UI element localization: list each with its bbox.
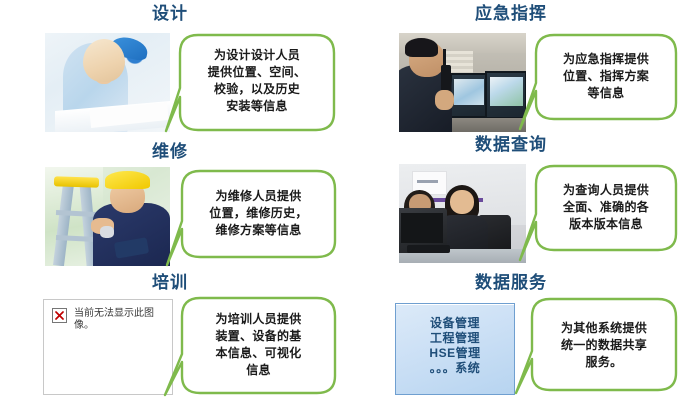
callout-line: 维修方案等信息 xyxy=(190,222,327,239)
callout-line: 服务。 xyxy=(540,354,668,371)
hard-hat-shape xyxy=(105,171,150,189)
photo-query-scene xyxy=(399,164,526,263)
callout-line: 等信息 xyxy=(544,85,668,102)
photo-data-query-office xyxy=(399,164,526,263)
callout-text-emergency: 为应急指挥提供 位置、指挥方案 等信息 xyxy=(534,51,678,102)
callout-line: 为培训人员提供 xyxy=(190,311,327,328)
hand-shape xyxy=(435,90,454,110)
callout-query: 为查询人员提供 全面、准确的各 版本版本信息 xyxy=(534,164,678,252)
data-service-item: 工程管理 xyxy=(396,331,514,346)
callout-line: 位置，维修历史， xyxy=(190,205,327,222)
tool-head-shape xyxy=(100,226,114,238)
callout-line: 位置、指挥方案 xyxy=(544,68,668,85)
callout-line: 信息 xyxy=(190,362,327,379)
monitor-shape-1 xyxy=(450,73,488,119)
hand-shape xyxy=(95,69,113,85)
panel-title-data-service: 数据服务 xyxy=(341,273,681,293)
callout-line: 版本版本信息 xyxy=(544,216,668,233)
callout-line: 为查询人员提供 xyxy=(544,182,668,199)
callout-line: 提供位置、空间、 xyxy=(188,64,326,81)
photo-design-scene xyxy=(45,33,170,132)
hard-hat-shape xyxy=(108,34,149,61)
broken-image-text: 当前无法显示此图像。 xyxy=(74,308,158,332)
panel-query: 数据查询 为查询人员提供 全面、准 xyxy=(341,133,681,270)
slide-canvas: 设计 为设计设计人员 提供位置、空间、 校验，以及历史 安装等信息 应急指挥 xyxy=(0,0,681,400)
callout-line: 为维修人员提供 xyxy=(190,188,327,205)
keyboard-shape xyxy=(407,245,450,253)
photo-emergency-commander xyxy=(399,33,526,132)
callout-text-data-service: 为其他系统提供 统一的数据共享 服务。 xyxy=(530,320,678,371)
panel-title-maintenance: 维修 xyxy=(0,142,340,162)
panel-maintenance: 维修 为维修人员提供 位置，维修历 xyxy=(0,140,340,270)
panel-design: 设计 为设计设计人员 提供位置、空间、 校验，以及历史 安装等信息 xyxy=(0,2,340,140)
callout-text-query: 为查询人员提供 全面、准确的各 版本版本信息 xyxy=(534,182,678,233)
callout-line: 安装等信息 xyxy=(188,98,326,115)
callout-line: 为应急指挥提供 xyxy=(544,51,668,68)
panel-title-query: 数据查询 xyxy=(341,135,681,155)
callout-line: 校验，以及历史 xyxy=(188,81,326,98)
data-service-item: 。。。系统 xyxy=(396,361,514,376)
callout-data-service: 为其他系统提供 统一的数据共享 服务。 xyxy=(530,297,678,393)
callout-line: 装置、设备的基 xyxy=(190,328,327,345)
broken-image-row: 当前无法显示此图像。 xyxy=(52,308,158,332)
photo-emergency-scene xyxy=(399,33,526,132)
panel-training: 培训 当前无法显示此图像。 为培训人员提供 装置、设备的基 本信息、可视化 信息 xyxy=(0,270,340,400)
data-service-box: 设备管理 工程管理 HSE管理 。。。系统 xyxy=(395,303,515,395)
data-service-item: HSE管理 xyxy=(396,346,514,361)
broken-image-placeholder: 当前无法显示此图像。 xyxy=(43,299,173,395)
photo-design-engineer xyxy=(45,33,170,132)
callout-text-design: 为设计设计人员 提供位置、空间、 校验，以及历史 安装等信息 xyxy=(178,47,336,115)
photo-maintenance-worker xyxy=(45,167,170,266)
data-service-item: 设备管理 xyxy=(396,316,514,331)
person-hair-shape xyxy=(405,38,438,57)
panel-emergency: 应急指挥 为应急指挥提供 位置、指挥方案 等信息 xyxy=(341,2,681,140)
callout-training: 为培训人员提供 装置、设备的基 本信息、可视化 信息 xyxy=(180,296,337,396)
callout-emergency: 为应急指挥提供 位置、指挥方案 等信息 xyxy=(534,33,678,121)
panel-data-service: 数据服务 设备管理 工程管理 HSE管理 。。。系统 为其他系统提供 统一的数据… xyxy=(341,270,681,400)
data-service-list: 设备管理 工程管理 HSE管理 。。。系统 xyxy=(396,316,514,376)
ladder-top-shape xyxy=(54,176,99,187)
panel-title-training: 培训 xyxy=(0,273,340,293)
broken-image-icon xyxy=(52,308,67,323)
callout-design: 为设计设计人员 提供位置、空间、 校验，以及历史 安装等信息 xyxy=(178,33,336,132)
callout-line: 统一的数据共享 xyxy=(540,337,668,354)
callout-line: 为设计设计人员 xyxy=(188,47,326,64)
callout-line: 全面、准确的各 xyxy=(544,199,668,216)
callout-line: 为其他系统提供 xyxy=(540,320,668,337)
callout-text-maintenance: 为维修人员提供 位置，维修历史， 维修方案等信息 xyxy=(180,188,337,239)
person2-head-shape xyxy=(450,190,474,215)
panel-title-emergency: 应急指挥 xyxy=(341,4,681,24)
panel-title-design: 设计 xyxy=(0,4,340,24)
monitor-shape-2 xyxy=(485,71,526,120)
callout-line: 本信息、可视化 xyxy=(190,345,327,362)
callout-text-training: 为培训人员提供 装置、设备的基 本信息、可视化 信息 xyxy=(180,311,337,379)
callout-maintenance: 为维修人员提供 位置，维修历史， 维修方案等信息 xyxy=(180,169,337,259)
photo-maintenance-scene xyxy=(45,167,170,266)
